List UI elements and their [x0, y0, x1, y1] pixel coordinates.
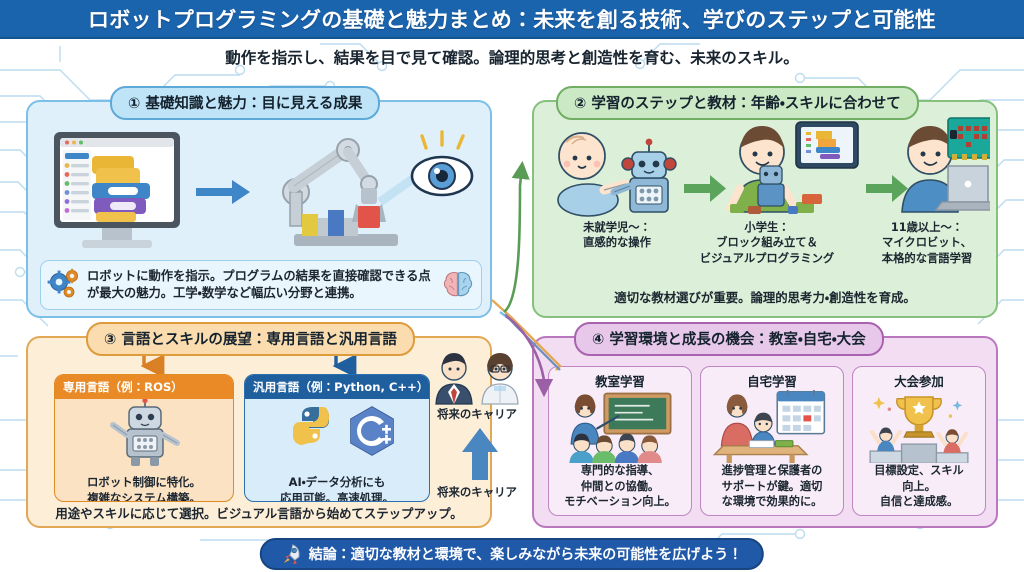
rocket-icon	[282, 544, 302, 564]
subtitle: 動作を指示し、結果を目で見て確認。論理的思考と創造性を育む、未来のスキル。	[0, 46, 1024, 68]
page-title: ロボットプログラミングの基礎と魅力まとめ：未来を創る技術、学びのステップと可能性	[88, 4, 936, 34]
conclusion-banner[interactable]: 結論：適切な教材と環境で、楽しみながら未来の可能性を広げよう！	[260, 538, 764, 570]
header-bar: ロボットプログラミングの基礎と魅力まとめ：未来を創る技術、学びのステップと可能性	[0, 0, 1024, 39]
panel3-title[interactable]: ③ 言語とスキルの展望：専用言語と汎用言語	[86, 322, 415, 356]
panel1-title[interactable]: ① 基礎知識と魅力：目に見える成果	[110, 86, 380, 120]
panel4-title[interactable]: ④ 学習環境と成長の機会：教室・自宅・大会	[574, 322, 884, 356]
panel2-title[interactable]: ② 学習のステップと教材：年齢・スキルに合わせて	[556, 86, 919, 120]
conclusion-text: 結論：適切な教材と環境で、楽しみながら未来の可能性を広げよう！	[309, 544, 742, 564]
